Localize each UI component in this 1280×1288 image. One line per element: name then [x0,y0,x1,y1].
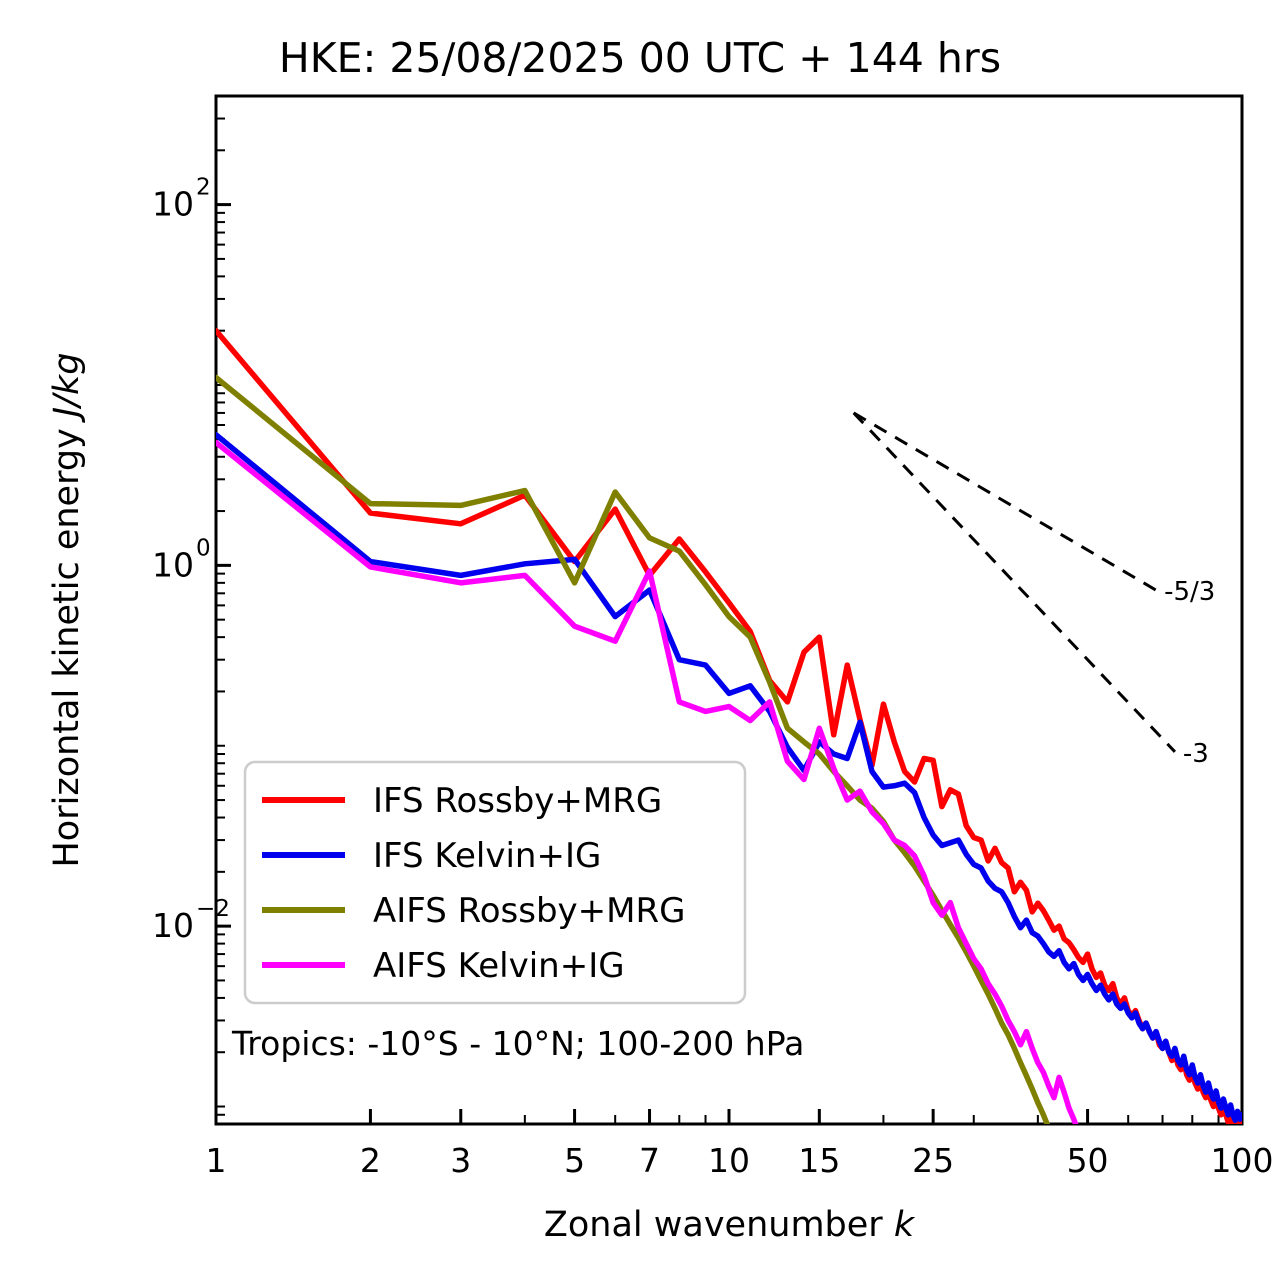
legend-label: IFS Kelvin+IG [373,836,601,876]
slope-line [854,413,1156,590]
chart-figure: HKE: 25/08/2025 00 UTC + 144 hrs -5/3-3 … [0,0,1280,1288]
slope-line [854,413,1175,752]
y-axis-label: Horizontal kinetic energy J/kg [47,352,87,867]
axis-labels-group: 123571015255010010210010−2Zonal wavenumb… [47,175,1274,1245]
svg-text:10: 10 [152,906,194,945]
slope-label: -3 [1183,739,1209,769]
legend-label: AIFS Rossby+MRG [373,891,685,931]
region-annotation: Tropics: -10°S - 10°N; 100-200 hPa [231,1024,804,1063]
svg-text:10: 10 [152,185,194,224]
slope-label: -5/3 [1164,577,1215,607]
x-tick-label: 3 [450,1141,471,1180]
x-tick-label: 2 [360,1141,381,1180]
svg-text:0: 0 [196,535,211,561]
y-tick-label: 100 [152,535,211,584]
chart-plot: -5/3-3 123571015255010010210010−2Zonal w… [0,0,1280,1288]
annotation-text: Tropics: -10°S - 10°N; 100-200 hPa [231,1024,804,1063]
legend-label: AIFS Kelvin+IG [373,946,625,986]
x-tick-label: 10 [708,1141,750,1180]
chart-legend[interactable]: IFS Rossby+MRGIFS Kelvin+IGAIFS Rossby+M… [245,762,745,1003]
x-tick-label: 5 [564,1141,585,1180]
y-tick-label: 102 [152,175,211,224]
svg-text:10: 10 [152,545,194,584]
y-tick-label: 10−2 [152,896,230,945]
legend-label: IFS Rossby+MRG [373,781,662,821]
series-line [216,331,1242,1128]
x-tick-label: 1 [206,1141,227,1180]
x-tick-label: 15 [798,1141,840,1180]
x-tick-label: 25 [912,1141,954,1180]
x-tick-label: 7 [639,1141,660,1180]
x-axis-label: Zonal wavenumber k [544,1205,916,1245]
x-tick-label: 100 [1211,1141,1274,1180]
svg-text:2: 2 [196,175,211,201]
slope-reference-lines: -5/3-3 [854,413,1216,769]
svg-text:−2: −2 [196,896,230,922]
x-tick-label: 50 [1067,1141,1109,1180]
svg-text:Horizontal kinetic energy J/kg: Horizontal kinetic energy J/kg [47,352,87,867]
